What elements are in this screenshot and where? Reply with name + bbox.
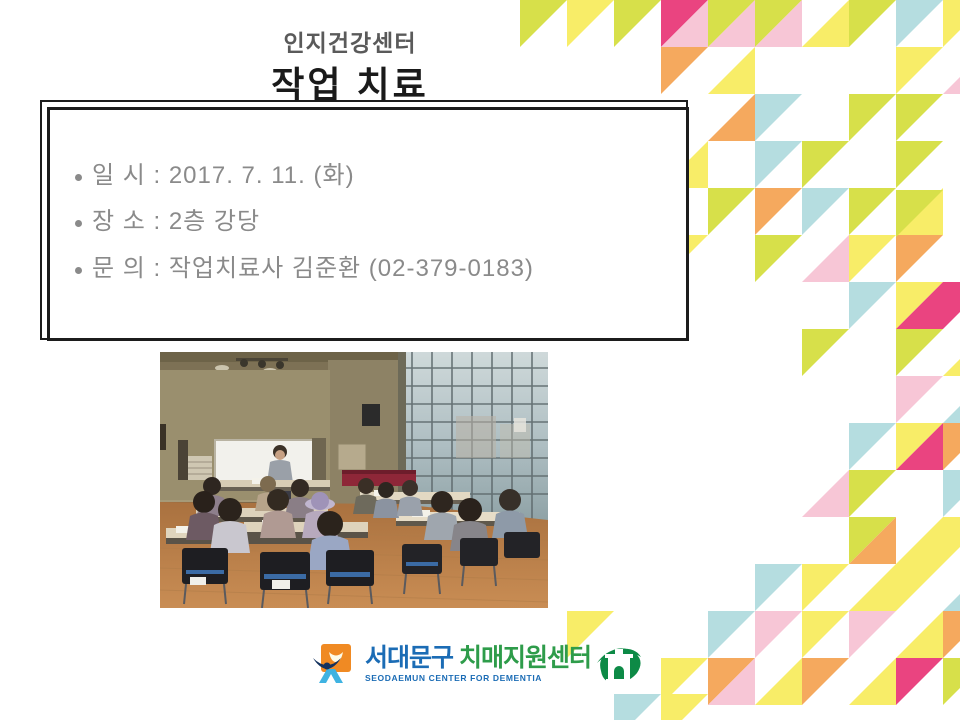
bullet-dot-icon — [75, 220, 82, 227]
pattern-triangle — [849, 658, 896, 705]
pattern-triangle — [896, 658, 943, 705]
header-titles: 인지건강센터 작업 치료 — [0, 30, 700, 107]
pattern-triangle — [802, 0, 849, 47]
pattern-triangle — [943, 282, 960, 329]
pattern-triangle — [849, 94, 896, 141]
pattern-triangle — [943, 423, 960, 470]
pattern-triangle — [755, 141, 802, 188]
pattern-triangle — [849, 564, 896, 611]
pattern-triangle — [896, 517, 943, 564]
pattern-triangle — [943, 470, 960, 517]
page-title: 작업 치료 — [0, 62, 700, 107]
pattern-triangle — [661, 694, 708, 720]
pattern-triangle — [943, 47, 960, 94]
pattern-triangle — [614, 694, 661, 720]
pattern-triangle — [849, 423, 896, 470]
pattern-triangle — [849, 470, 896, 517]
pattern-triangle — [849, 282, 896, 329]
pattern-triangle — [896, 282, 943, 329]
logo-korean-name: 서대문구 치매지원센터 — [365, 645, 591, 671]
pattern-triangle — [802, 141, 849, 188]
person-star-icon — [313, 644, 357, 684]
slide-canvas: 인지건강센터 작업 치료 일 시 : 2017. 7. 11. (화) 장 소 … — [0, 0, 960, 720]
pattern-triangle — [896, 611, 943, 658]
info-bullet-list: 일 시 : 2017. 7. 11. (화) 장 소 : 2층 강당 문 의 :… — [75, 160, 675, 299]
pattern-triangle — [708, 611, 755, 658]
list-item-text: 장 소 : 2층 강당 — [92, 206, 675, 238]
classroom-photo-illustration — [160, 352, 548, 608]
pattern-triangle — [849, 0, 896, 47]
pattern-triangle — [849, 235, 896, 282]
pattern-triangle — [943, 329, 960, 376]
bullet-dot-icon — [75, 174, 82, 181]
logo-text-block: 서대문구 치매지원센터 SEODAEMUN CENTER FOR DEMENTI… — [365, 645, 591, 683]
pattern-triangle — [896, 282, 943, 329]
pattern-triangle — [896, 47, 943, 94]
pattern-triangle — [896, 376, 943, 423]
pattern-triangle — [802, 611, 849, 658]
pattern-triangle — [896, 235, 943, 282]
pattern-triangle — [802, 188, 849, 235]
pattern-triangle — [896, 564, 943, 611]
pattern-triangle — [802, 470, 849, 517]
pattern-triangle — [943, 611, 960, 658]
logo-korean-part1: 서대문구 — [365, 644, 459, 672]
list-item: 일 시 : 2017. 7. 11. (화) — [75, 160, 675, 192]
list-item-text: 일 시 : 2017. 7. 11. (화) — [92, 160, 675, 192]
pattern-triangle — [755, 658, 802, 705]
pattern-triangle — [896, 190, 943, 237]
bullet-dot-icon — [75, 267, 82, 274]
pattern-triangle — [708, 0, 755, 47]
pattern-triangle — [802, 564, 849, 611]
pattern-triangle — [896, 141, 943, 188]
pattern-triangle — [943, 564, 960, 611]
pattern-triangle — [802, 329, 849, 376]
classroom-photo — [160, 352, 548, 608]
dongnimmun-gate-icon — [595, 641, 643, 687]
pattern-triangle — [849, 517, 896, 564]
pattern-triangle — [755, 564, 802, 611]
list-item: 문 의 : 작업치료사 김준환 (02-379-0183) — [75, 253, 675, 285]
pattern-triangle — [755, 94, 802, 141]
pattern-triangle — [708, 47, 755, 94]
pattern-triangle — [896, 329, 943, 376]
pattern-triangle — [849, 188, 896, 235]
pattern-triangle — [755, 0, 802, 47]
pattern-triangle — [802, 658, 849, 705]
pattern-triangle — [943, 376, 960, 423]
list-item-text: 문 의 : 작업치료사 김준환 (02-379-0183) — [92, 253, 675, 285]
pattern-triangle — [755, 188, 802, 235]
pattern-triangle — [708, 188, 755, 235]
logo-korean-part2: 치매지원센터 — [459, 644, 591, 672]
footer-logo: 서대문구 치매지원센터 SEODAEMUN CENTER FOR DEMENTI… — [313, 638, 653, 690]
pattern-triangle — [896, 188, 943, 235]
pattern-triangle — [755, 0, 802, 47]
pattern-triangle — [896, 94, 943, 141]
pattern-triangle — [708, 94, 755, 141]
pattern-triangle — [755, 611, 802, 658]
pattern-triangle — [708, 658, 755, 705]
pattern-triangle — [661, 658, 708, 705]
pattern-triangle — [943, 0, 960, 47]
pattern-triangle — [849, 611, 896, 658]
page-subtitle: 인지건강센터 — [0, 30, 700, 58]
pattern-triangle — [896, 0, 943, 47]
pattern-triangle — [708, 658, 755, 705]
pattern-triangle — [896, 423, 943, 470]
pattern-triangle — [849, 517, 896, 564]
logo-english-name: SEODAEMUN CENTER FOR DEMENTIA — [365, 673, 591, 683]
pattern-triangle — [708, 0, 755, 47]
pattern-triangle — [896, 423, 943, 470]
pattern-triangle — [943, 517, 960, 564]
pattern-triangle — [802, 235, 849, 282]
list-item: 장 소 : 2층 강당 — [75, 206, 675, 238]
pattern-triangle — [755, 235, 802, 282]
pattern-triangle — [943, 658, 960, 705]
